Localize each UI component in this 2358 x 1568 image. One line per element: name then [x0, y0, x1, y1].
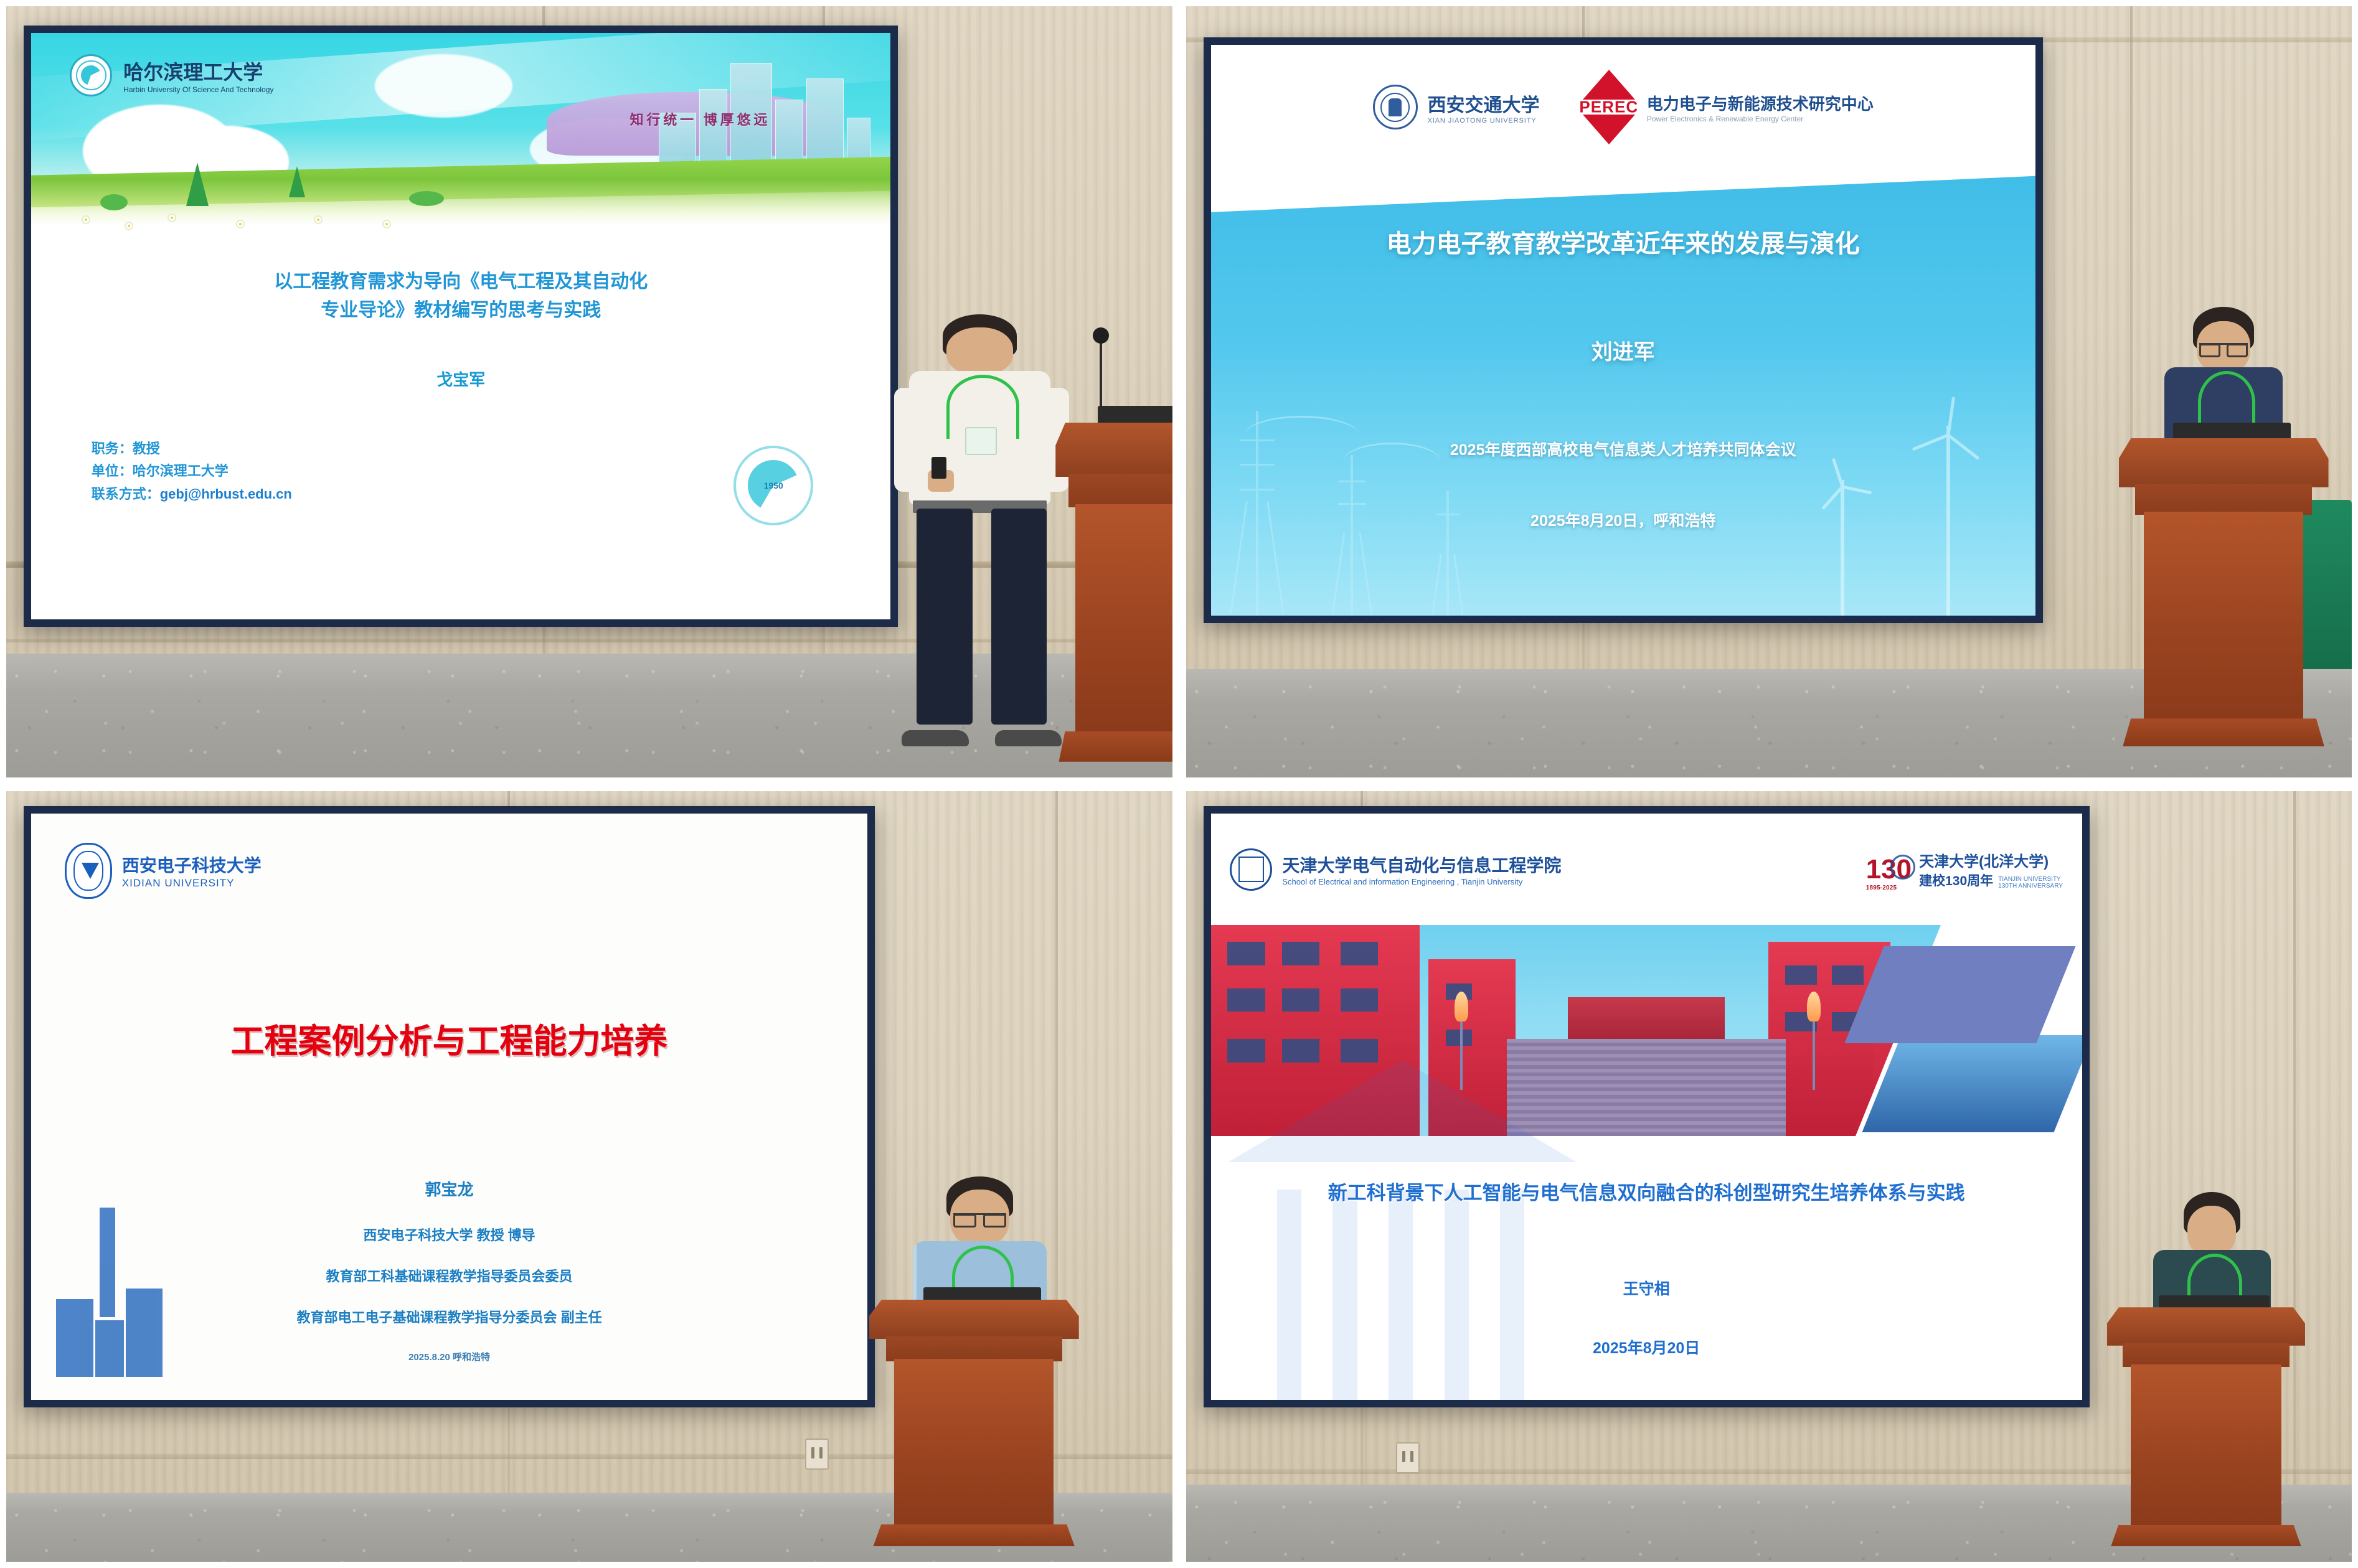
anniversary-subtitle-cn: 建校130周年 [1919, 871, 1993, 890]
leg-right [991, 509, 1047, 725]
slide-header: 天津大学电气自动化与信息工程学院 School of Electrical an… [1211, 814, 2082, 925]
diagonal-blue-shape [1844, 946, 2075, 1043]
anniversary-title-cn: 天津大学(北洋大学) [1919, 849, 2063, 871]
slide-title: 新工科背景下人工智能与电气信息双向融合的科创型研究生培养体系与实践 [1229, 1177, 2065, 1205]
podium [2107, 1307, 2305, 1546]
perec-logo: PEREC 电力电子与新能源技术研究中心 Power Electronics &… [1581, 70, 1874, 144]
meta-contact-email: gebj@hrbust.edu.cn [160, 486, 292, 502]
slide-meta: 职务：教授 单位：哈尔滨理工大学 联系方式：gebj@hrbust.edu.cn [92, 438, 292, 505]
meta-contact-label: 联系方式： [92, 486, 160, 502]
anniversary-title-en: TIANJIN UNIVERSITY [1998, 876, 2063, 883]
slide-date-place: 2025年8月20日，呼和浩特 [1211, 509, 2035, 531]
podium [1055, 423, 1172, 762]
perec-name-en: Power Electronics & Renewable Energy Cen… [1647, 115, 1874, 123]
panel-bottom-right: 天津大学电气自动化与信息工程学院 School of Electrical an… [1186, 791, 2352, 1562]
perec-name-cn: 电力电子与新能源技术研究中心 [1647, 92, 1874, 115]
anniversary-subtitle-en: 130TH ANNIVERSARY [1998, 883, 2063, 890]
slide-title: 电力电子教育教学改革近年来的发展与演化 [1244, 223, 2002, 260]
xidian-logo: 西安电子科技大学 XIDIAN UNIVERSITY [65, 843, 262, 899]
xjtu-name-en: XIAN JIAOTONG UNIVERSITY [1428, 117, 1540, 124]
meta-affiliation: 单位：哈尔滨理工大学 [92, 460, 292, 482]
campus-gate [1568, 997, 1725, 1044]
hrbust-logo: 哈尔滨理工大学 Harbin University Of Science And… [70, 54, 273, 96]
shoe-right [995, 730, 1062, 746]
institution-name-en: XIDIAN UNIVERSITY [122, 877, 262, 890]
head [2187, 1206, 2236, 1256]
anniversary-logo: 130 1895-2025 天津大学(北洋大学) 建校130周年 TIANJIN… [1866, 849, 2063, 890]
xjtu-logo: 西安交通大学 XIAN JIAOTONG UNIVERSITY [1373, 85, 1540, 129]
wind-turbine-icon [1911, 384, 1986, 616]
campus-illustration [56, 1201, 165, 1377]
panel-bottom-left: 西安电子科技大学 XIDIAN UNIVERSITY 工程案例分析与工程能力培养… [6, 791, 1172, 1562]
campus-night-photo [1862, 1035, 2082, 1132]
slide-title-line1: 以工程教育需求为导向《电气工程及其自动化 [83, 268, 839, 297]
institution-name-en: Harbin University Of Science And Technol… [123, 85, 273, 94]
slide-presenter: 刘进军 [1211, 335, 2035, 365]
slide-title: 工程案例分析与工程能力培养 [65, 1013, 834, 1063]
xjtu-name-cn: 西安交通大学 [1428, 90, 1540, 117]
hrbust-seal-icon [70, 54, 112, 96]
projection-screen-frame: 西安电子科技大学 XIDIAN UNIVERSITY 工程案例分析与工程能力培养… [24, 806, 875, 1407]
meta-affiliation-label: 单位： [92, 463, 133, 479]
anniversary-badge-icon: 130 1895-2025 [1866, 857, 1912, 882]
arm-left [894, 388, 931, 491]
shoe-left [902, 730, 969, 746]
panel-top-left: 哈尔滨理工大学 Harbin University Of Science And… [6, 6, 1172, 777]
institution-name-cn: 西安电子科技大学 [122, 852, 262, 877]
xidian-seal-icon [65, 843, 112, 899]
podium [869, 1300, 1079, 1546]
perec-mark-icon: PEREC [1581, 70, 1637, 144]
slide-body: 电力电子教育教学改革近年来的发展与演化 刘进军 2025年度西部高校电气信息类人… [1211, 170, 2035, 615]
slide-banner-image: 哈尔滨理工大学 Harbin University Of Science And… [31, 33, 890, 244]
name-badge [965, 427, 997, 456]
photo-collage: 哈尔滨理工大学 Harbin University Of Science And… [0, 0, 2358, 1568]
school-name-en: School of Electrical and information Eng… [1282, 877, 1561, 886]
slide-conference: 2025年度西部高校电气信息类人才培养共同体会议 [1211, 438, 2035, 460]
tree-icon [289, 166, 305, 197]
meta-affiliation-value: 哈尔滨理工大学 [133, 463, 229, 479]
tju-school-logo: 天津大学电气自动化与信息工程学院 School of Electrical an… [1230, 848, 1561, 891]
slide-presenter: 王守相 [1211, 1277, 2082, 1299]
power-outlet [1396, 1442, 1420, 1473]
slide-title-line2: 专业导论》教材编写的思考与实践 [83, 296, 839, 326]
podium [2119, 438, 2329, 746]
slide-tju: 天津大学电气自动化与信息工程学院 School of Electrical an… [1211, 814, 2082, 1400]
projection-screen-frame: 天津大学电气自动化与信息工程学院 School of Electrical an… [1204, 806, 2090, 1407]
projection-screen-frame: 西安交通大学 XIAN JIAOTONG UNIVERSITY PEREC 电力… [1204, 37, 2043, 623]
meta-role-value: 教授 [133, 441, 160, 456]
bush-icon [100, 194, 128, 210]
meta-role: 职务：教授 [92, 438, 292, 460]
perec-wordmark: PEREC [1579, 98, 1638, 117]
slide-presenter: 郭宝龙 [31, 1177, 867, 1200]
slide-presenter: 戈宝军 [31, 367, 890, 390]
slide-hrbust: 哈尔滨理工大学 Harbin University Of Science And… [31, 33, 890, 619]
anniversary-years: 1895-2025 [1866, 885, 1897, 891]
seal-year: 1950 [764, 481, 783, 491]
cloud-icon [375, 54, 512, 118]
meta-contact: 联系方式：gebj@hrbust.edu.cn [92, 483, 292, 505]
institution-name-cn: 哈尔滨理工大学 [123, 57, 273, 85]
projection-screen-frame: 哈尔滨理工大学 Harbin University Of Science And… [24, 26, 898, 627]
tree-icon [186, 162, 209, 206]
wave-divider [1211, 170, 2035, 215]
university-motto: 知行统一 博厚悠远 [630, 109, 771, 129]
slide-title: 以工程教育需求为导向《电气工程及其自动化 专业导论》教材编写的思考与实践 [83, 268, 839, 326]
leg-left [917, 509, 973, 725]
speaker-person [887, 314, 1073, 746]
hrbust-watermark-seal: 1950 [733, 446, 813, 525]
power-outlet [805, 1439, 829, 1470]
meta-role-label: 职务： [92, 441, 133, 456]
presenter-remote [931, 457, 946, 479]
transmission-tower-icon [1334, 455, 1369, 616]
slide-date: 2025年8月20日 [1211, 1336, 2082, 1358]
slide-logo-row: 西安交通大学 XIAN JIAOTONG UNIVERSITY PEREC 电力… [1211, 45, 2035, 171]
glasses-icon [953, 1213, 1006, 1215]
glasses-icon [2199, 343, 2248, 345]
school-name-cn: 天津大学电气自动化与信息工程学院 [1282, 852, 1561, 877]
slide-xjtu: 西安交通大学 XIAN JIAOTONG UNIVERSITY PEREC 电力… [1211, 45, 2035, 616]
panel-top-right: 西安交通大学 XIAN JIAOTONG UNIVERSITY PEREC 电力… [1186, 6, 2352, 777]
head [946, 327, 1014, 375]
tju-seal-icon [1230, 848, 1272, 891]
slide-xidian: 西安电子科技大学 XIDIAN UNIVERSITY 工程案例分析与工程能力培养… [31, 814, 867, 1400]
lantern-icon [1807, 992, 1821, 1090]
xjtu-seal-icon [1373, 85, 1418, 129]
